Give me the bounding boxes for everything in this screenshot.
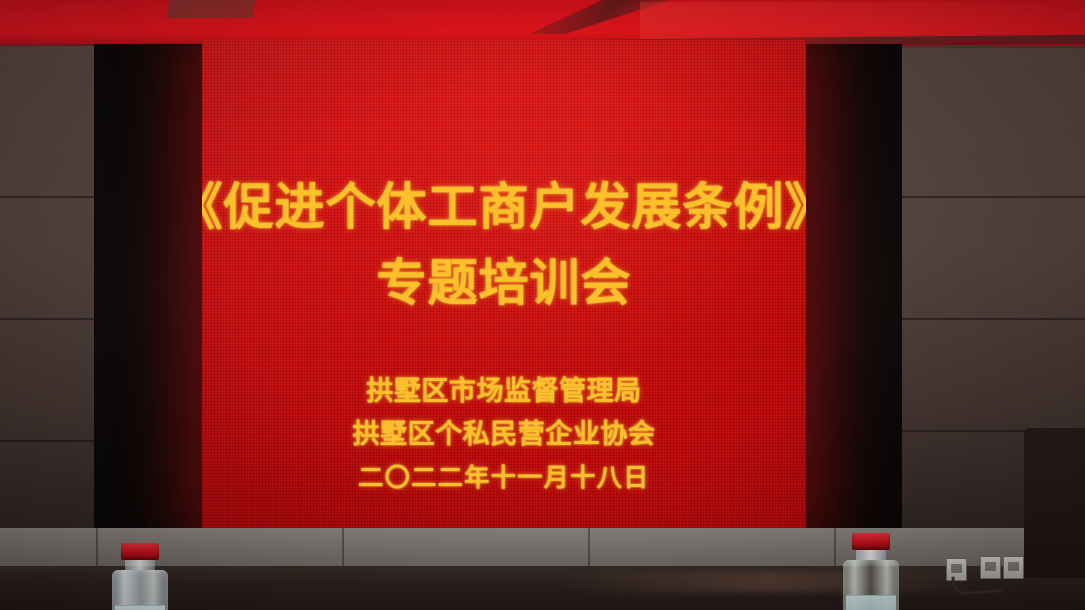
power-socket[interactable] xyxy=(1003,556,1024,579)
power-cable xyxy=(951,573,1001,595)
screen-bezel-right xyxy=(804,44,902,530)
wall-seam xyxy=(900,196,1085,198)
slide-organizer-line-2: 拱墅区个私民营企业协会 xyxy=(353,421,656,448)
slide-title-line-2: 专题培训会 xyxy=(377,258,632,308)
screen-bezel-left xyxy=(94,44,204,530)
wall-seam xyxy=(900,318,1085,320)
water-bottle-left[interactable] xyxy=(112,543,168,610)
right-cabinet xyxy=(1024,428,1085,578)
bottle-neck xyxy=(856,550,886,560)
slide-date: 二〇二二年十一月十八日 xyxy=(358,466,650,491)
bottle-cap xyxy=(852,533,890,550)
ceiling-vent xyxy=(167,0,256,18)
bottle-body xyxy=(843,560,899,610)
water-bottle-right[interactable] xyxy=(843,533,899,610)
bottle-body xyxy=(112,570,168,610)
bottle-neck xyxy=(125,560,155,570)
slide-title-line-1: 《促进个体工商户发展条例》 xyxy=(202,182,806,232)
photo-scene: 《促进个体工商户发展条例》 专题培训会 拱墅区市场监督管理局 拱墅区个私民营企业… xyxy=(0,0,1085,610)
bottle-cap xyxy=(121,543,159,560)
bottle-label xyxy=(846,595,896,610)
led-display-screen[interactable]: 《促进个体工商户发展条例》 专题培训会 拱墅区市场监督管理局 拱墅区个私民营企业… xyxy=(202,40,806,528)
bottle-label xyxy=(115,605,165,610)
slide-organizer-line-1: 拱墅区市场监督管理局 xyxy=(366,378,641,405)
table-reflection xyxy=(560,572,980,592)
